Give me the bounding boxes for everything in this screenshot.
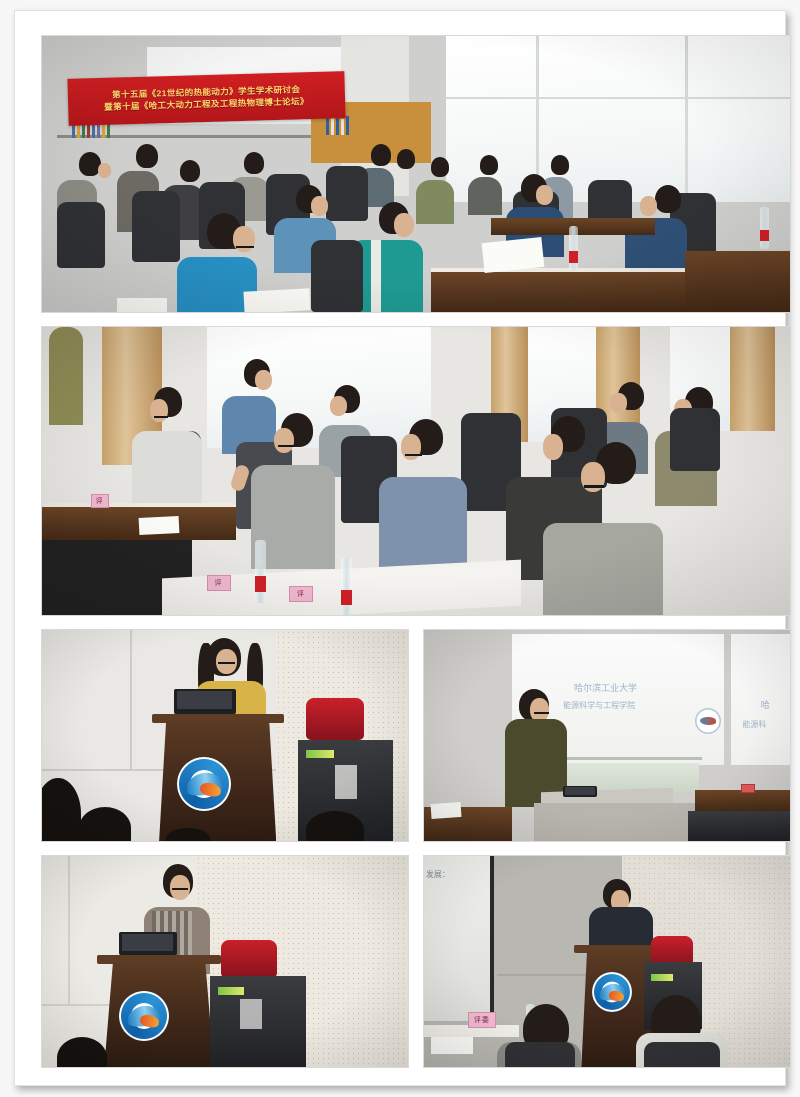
red-chair-cover bbox=[306, 698, 364, 740]
laptop bbox=[174, 689, 236, 714]
photo-6-presenter-over-judges[interactable]: 发展： bbox=[423, 855, 791, 1068]
audience-head-silhouette bbox=[306, 811, 364, 842]
glasses-icon bbox=[154, 416, 168, 418]
document-paper bbox=[139, 516, 180, 535]
status-indicator-led bbox=[218, 987, 244, 995]
lectern-body bbox=[534, 803, 695, 841]
window-right bbox=[446, 36, 790, 202]
glasses-icon bbox=[278, 445, 294, 447]
attendee-torso-front bbox=[543, 523, 663, 615]
attendee-torso-front bbox=[379, 477, 467, 575]
photo-5-male-presenter[interactable] bbox=[41, 855, 409, 1068]
photo-5-scene bbox=[42, 856, 408, 1067]
glasses-icon bbox=[534, 712, 549, 714]
conference-desk bbox=[685, 251, 790, 312]
glasses-icon bbox=[218, 662, 235, 664]
water-bottle bbox=[760, 207, 769, 248]
slide-title-line-1: 哈尔滨工业大学 bbox=[574, 681, 637, 694]
chair bbox=[505, 1042, 575, 1068]
audience-head-silhouette bbox=[79, 807, 131, 842]
chair bbox=[644, 1042, 720, 1068]
water-bottle bbox=[569, 226, 578, 270]
audience-head-silhouette bbox=[166, 828, 210, 842]
curtain bbox=[730, 327, 775, 431]
conference-desk bbox=[431, 271, 715, 312]
slide-title-line-2: 能源科学与工程学院 bbox=[563, 700, 635, 711]
conference-banner: 第十五届《21世纪的热能动力》学生学术研讨会 暨第十届《哈工大动力工程及工程热物… bbox=[68, 71, 346, 126]
back-desk bbox=[695, 790, 790, 811]
attendee-face-front bbox=[150, 399, 168, 422]
glasses-icon bbox=[584, 485, 604, 488]
name-card-judge: 评委 bbox=[468, 1012, 496, 1028]
glasses-icon bbox=[172, 888, 188, 890]
attendee-face bbox=[98, 163, 111, 178]
photo-gallery-page: 第十五届《21世纪的热能动力》学生学术研讨会 暨第十届《哈工大动力工程及工程热物… bbox=[0, 0, 800, 1097]
photo-2-scene: 评 评 评 bbox=[42, 327, 790, 615]
photo-3-female-presenter[interactable] bbox=[41, 629, 409, 842]
paper-label bbox=[335, 765, 357, 799]
laptop bbox=[563, 786, 597, 797]
status-indicator-led bbox=[306, 750, 334, 758]
wall-seam bbox=[130, 630, 132, 769]
equipment-cabinet bbox=[688, 811, 790, 841]
photo-1-scene: 第十五届《21世纪的热能动力》学生学术研讨会 暨第十届《哈工大动力工程及工程热物… bbox=[42, 36, 790, 312]
photo-4-scene: 哈尔滨工业大学 能源科学与工程学院 哈 能源科 bbox=[424, 630, 790, 841]
red-chair-cover bbox=[221, 940, 277, 978]
attendee-head bbox=[136, 144, 158, 168]
attendee-head bbox=[480, 155, 498, 175]
university-emblem-logo bbox=[695, 708, 721, 734]
attendee-head bbox=[397, 149, 415, 169]
standing-attendee bbox=[49, 327, 83, 425]
attendee-face-front bbox=[394, 213, 414, 237]
screen-edge bbox=[490, 856, 494, 1025]
name-card-label: 评委 bbox=[474, 1015, 490, 1025]
gallery-row-4: 发展： bbox=[41, 855, 791, 1068]
slide-heading-fragment: 发展： bbox=[426, 869, 450, 880]
shirt-stripe bbox=[371, 240, 381, 312]
chair bbox=[57, 202, 105, 268]
document-paper bbox=[117, 298, 167, 312]
attendee-face bbox=[330, 396, 347, 416]
attendee-head bbox=[371, 144, 391, 166]
photo-2-discussion[interactable]: 评 评 评 bbox=[41, 326, 791, 616]
university-emblem-logo bbox=[119, 991, 169, 1041]
attendee-head bbox=[244, 152, 264, 174]
photo-3-scene bbox=[42, 630, 408, 841]
chair bbox=[311, 240, 363, 312]
desk-top bbox=[42, 503, 236, 507]
photo-6-scene: 发展： bbox=[424, 856, 790, 1067]
attendee-face bbox=[255, 370, 272, 390]
name-card bbox=[741, 784, 755, 793]
attendee-head bbox=[551, 155, 569, 175]
gallery-row-1: 第十五届《21世纪的热能动力》学生学术研讨会 暨第十届《哈工大动力工程及工程热物… bbox=[41, 35, 791, 313]
status-indicator-led bbox=[651, 974, 673, 981]
photo-1-seminar-audience[interactable]: 第十五届《21世纪的热能动力》学生学术研讨会 暨第十届《哈工大动力工程及工程热物… bbox=[41, 35, 791, 313]
attendee-face-front bbox=[311, 196, 328, 216]
attendee-torso bbox=[416, 180, 454, 224]
chair bbox=[670, 408, 720, 471]
gallery-row-2: 评 评 评 bbox=[41, 326, 791, 616]
name-card: 评 bbox=[91, 494, 109, 508]
chair bbox=[132, 191, 180, 263]
paper-label bbox=[240, 999, 262, 1029]
attendee-head bbox=[180, 160, 200, 182]
document-paper bbox=[431, 802, 462, 819]
photo-grid: 第十五届《21世纪的热能动力》学生学术研讨会 暨第十届《哈工大动力工程及工程热物… bbox=[41, 35, 791, 1068]
window-mullion bbox=[446, 97, 790, 99]
attendee-face-front bbox=[640, 196, 657, 216]
university-emblem-logo bbox=[177, 757, 231, 811]
attendee-head bbox=[431, 157, 449, 177]
glasses-icon bbox=[405, 454, 422, 456]
presenter-face bbox=[530, 698, 549, 722]
photo-4-screen-presentation[interactable]: 哈尔滨工业大学 能源科学与工程学院 哈 能源科 bbox=[423, 629, 791, 842]
name-card: 评 bbox=[207, 575, 231, 591]
glasses-icon bbox=[236, 246, 254, 248]
document-paper bbox=[431, 1037, 473, 1054]
wall-seam bbox=[68, 856, 70, 1004]
gallery-row-3: 哈尔滨工业大学 能源科学与工程学院 哈 能源科 bbox=[41, 629, 791, 842]
audience-head-silhouette bbox=[57, 1037, 107, 1068]
projection-screen bbox=[424, 856, 490, 1021]
name-card: 评 bbox=[289, 586, 313, 602]
attendee-face-front bbox=[543, 434, 563, 460]
attendee-face-front bbox=[274, 428, 294, 453]
water-bottle bbox=[341, 557, 352, 615]
chair bbox=[326, 166, 368, 221]
water-bottle bbox=[255, 540, 266, 603]
slide-title-right-2: 能源科 bbox=[742, 719, 766, 730]
page-sheet: 第十五届《21世纪的热能动力》学生学术研讨会 暨第十届《哈工大动力工程及工程热物… bbox=[14, 10, 786, 1086]
attendee-head-front bbox=[655, 185, 681, 213]
laptop bbox=[119, 932, 177, 955]
document-paper bbox=[243, 288, 310, 313]
window-mullion bbox=[685, 36, 688, 202]
attendee-face-front bbox=[536, 185, 553, 205]
attendee-torso bbox=[468, 177, 502, 216]
attendee-face-front bbox=[233, 226, 255, 252]
slide-title-right-1: 哈 bbox=[761, 698, 770, 711]
